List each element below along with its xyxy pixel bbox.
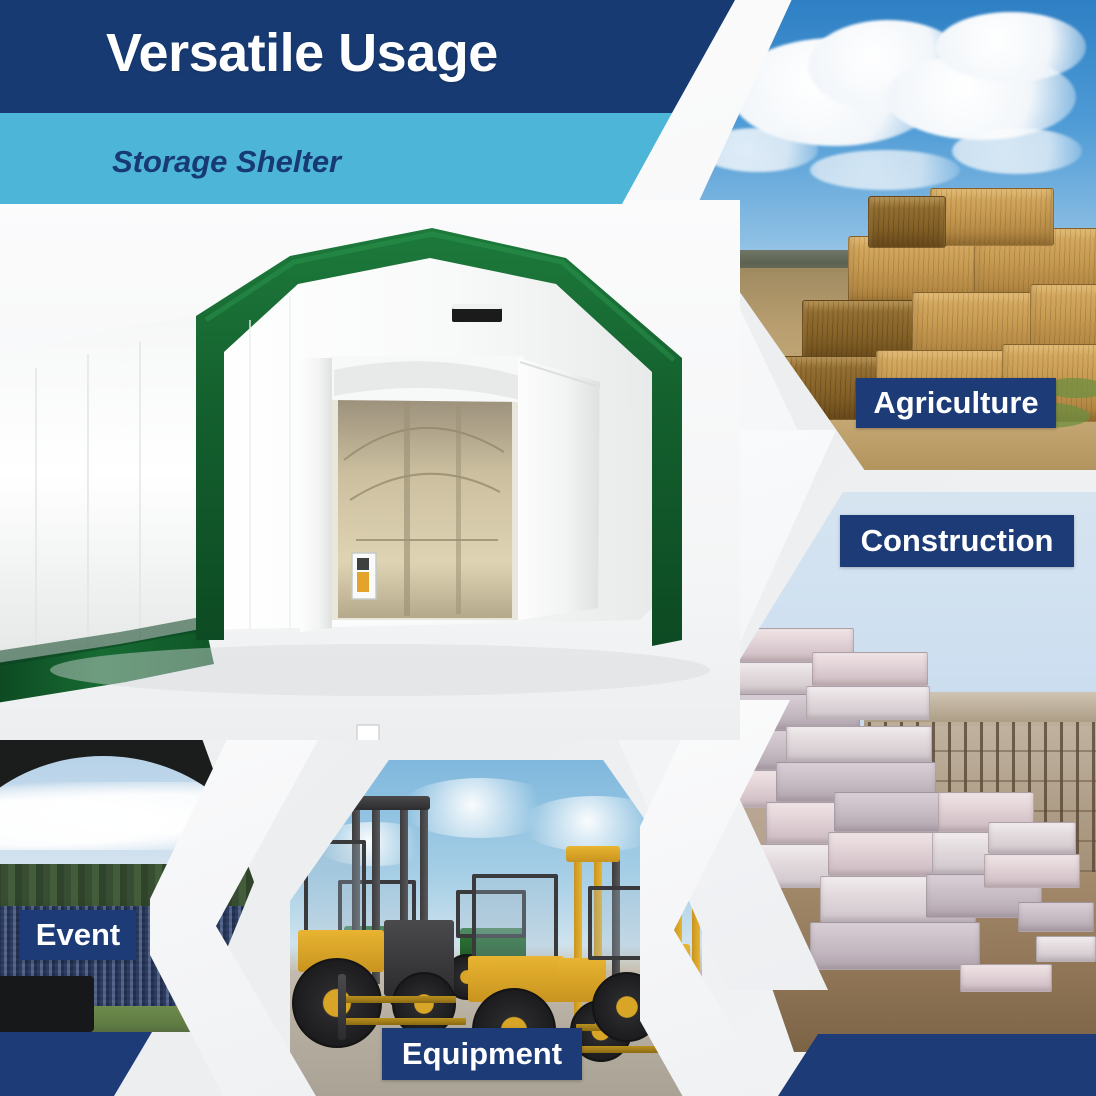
- aac-block: [960, 964, 1052, 992]
- grass-patch: [1050, 378, 1096, 398]
- label-equipment: Equipment: [382, 1028, 582, 1080]
- aac-block: [1018, 902, 1094, 932]
- aac-block: [786, 726, 932, 762]
- aac-block: [984, 854, 1080, 888]
- page-title: Versatile Usage: [106, 22, 498, 84]
- hay-bale: [930, 188, 1054, 246]
- shelter-illustration: [0, 200, 740, 740]
- aac-block: [806, 686, 930, 720]
- hay-bale: [868, 196, 946, 248]
- label-event: Event: [20, 910, 136, 960]
- foreground-object: [0, 976, 94, 1032]
- cloud-shape: [810, 150, 960, 190]
- aac-block: [812, 652, 928, 686]
- subtitle-bar: [0, 113, 720, 204]
- aac-block: [988, 822, 1076, 854]
- poster-canvas: Versatile Usage Storage Shelter Agricult…: [0, 0, 1096, 1096]
- aac-block: [1036, 936, 1096, 962]
- page-subtitle: Storage Shelter: [112, 144, 341, 180]
- storage-shelter-photo: [0, 200, 740, 740]
- label-construction: Construction: [840, 515, 1074, 567]
- aac-block: [810, 922, 980, 970]
- cloud-shape: [952, 128, 1082, 174]
- cloud-shape: [936, 12, 1086, 82]
- label-agriculture: Agriculture: [856, 378, 1056, 428]
